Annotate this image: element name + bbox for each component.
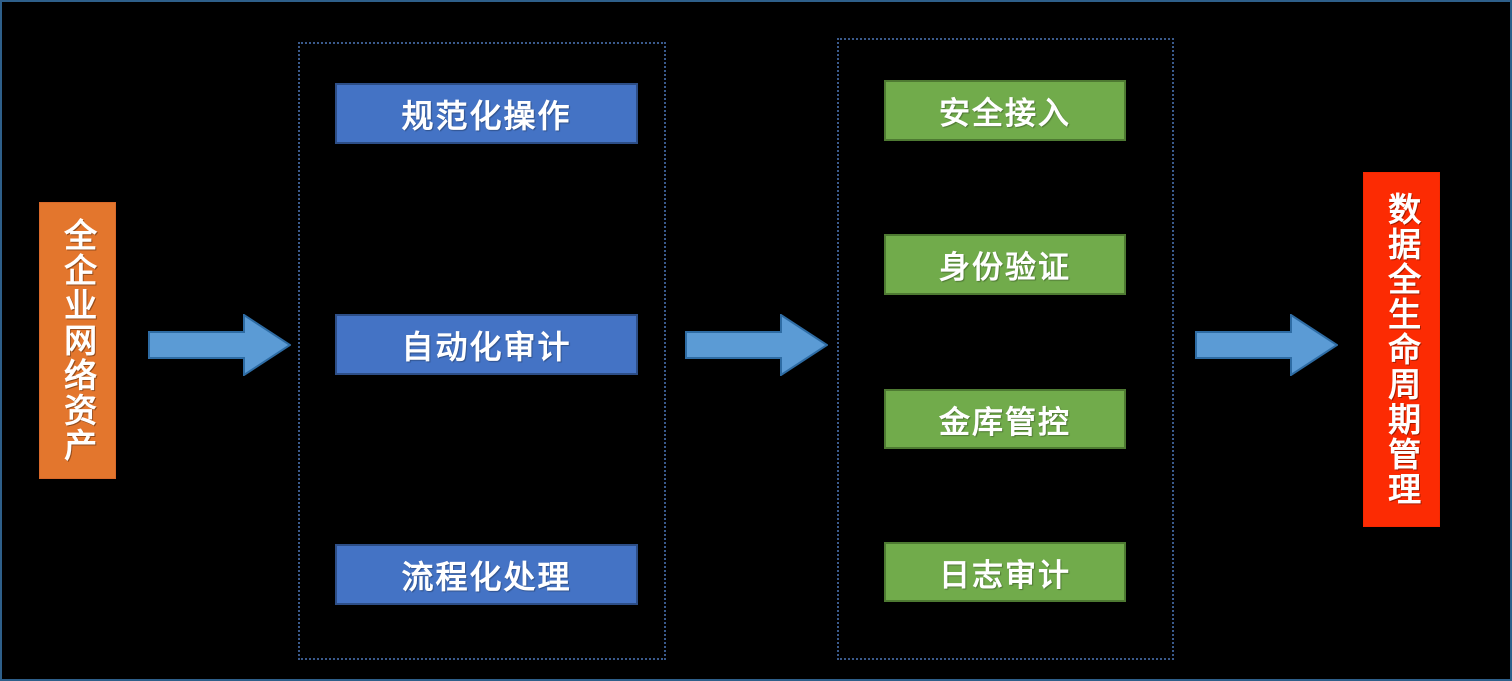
node-process-handling[interactable]: 流程化处理	[335, 544, 638, 605]
target-node-label: 数据全生命周期管理	[1384, 192, 1418, 507]
node-automated-audit[interactable]: 自动化审计	[335, 314, 638, 375]
source-node-label: 全企业网络资产	[60, 218, 94, 463]
diagram-canvas: 全企业网络资产 规范化操作 自动化审计 流程化处理 安全接入 身份验证 金库管控…	[0, 0, 1512, 681]
arrow-security-to-lifecycle	[1195, 314, 1338, 376]
arrow-operations-to-security	[685, 314, 828, 376]
node-log-audit[interactable]: 日志审计	[884, 542, 1126, 602]
right-arrow-icon	[685, 314, 828, 376]
source-node-enterprise-assets[interactable]: 全企业网络资产	[39, 202, 116, 479]
right-arrow-icon	[148, 314, 291, 376]
target-node-data-lifecycle-management[interactable]: 数据全生命周期管理	[1363, 172, 1440, 527]
arrow-assets-to-operations	[148, 314, 291, 376]
node-identity-authentication[interactable]: 身份验证	[884, 234, 1126, 295]
node-standardized-operation[interactable]: 规范化操作	[335, 83, 638, 144]
node-secure-access[interactable]: 安全接入	[884, 80, 1126, 141]
node-vault-control[interactable]: 金库管控	[884, 389, 1126, 449]
right-arrow-icon	[1195, 314, 1338, 376]
